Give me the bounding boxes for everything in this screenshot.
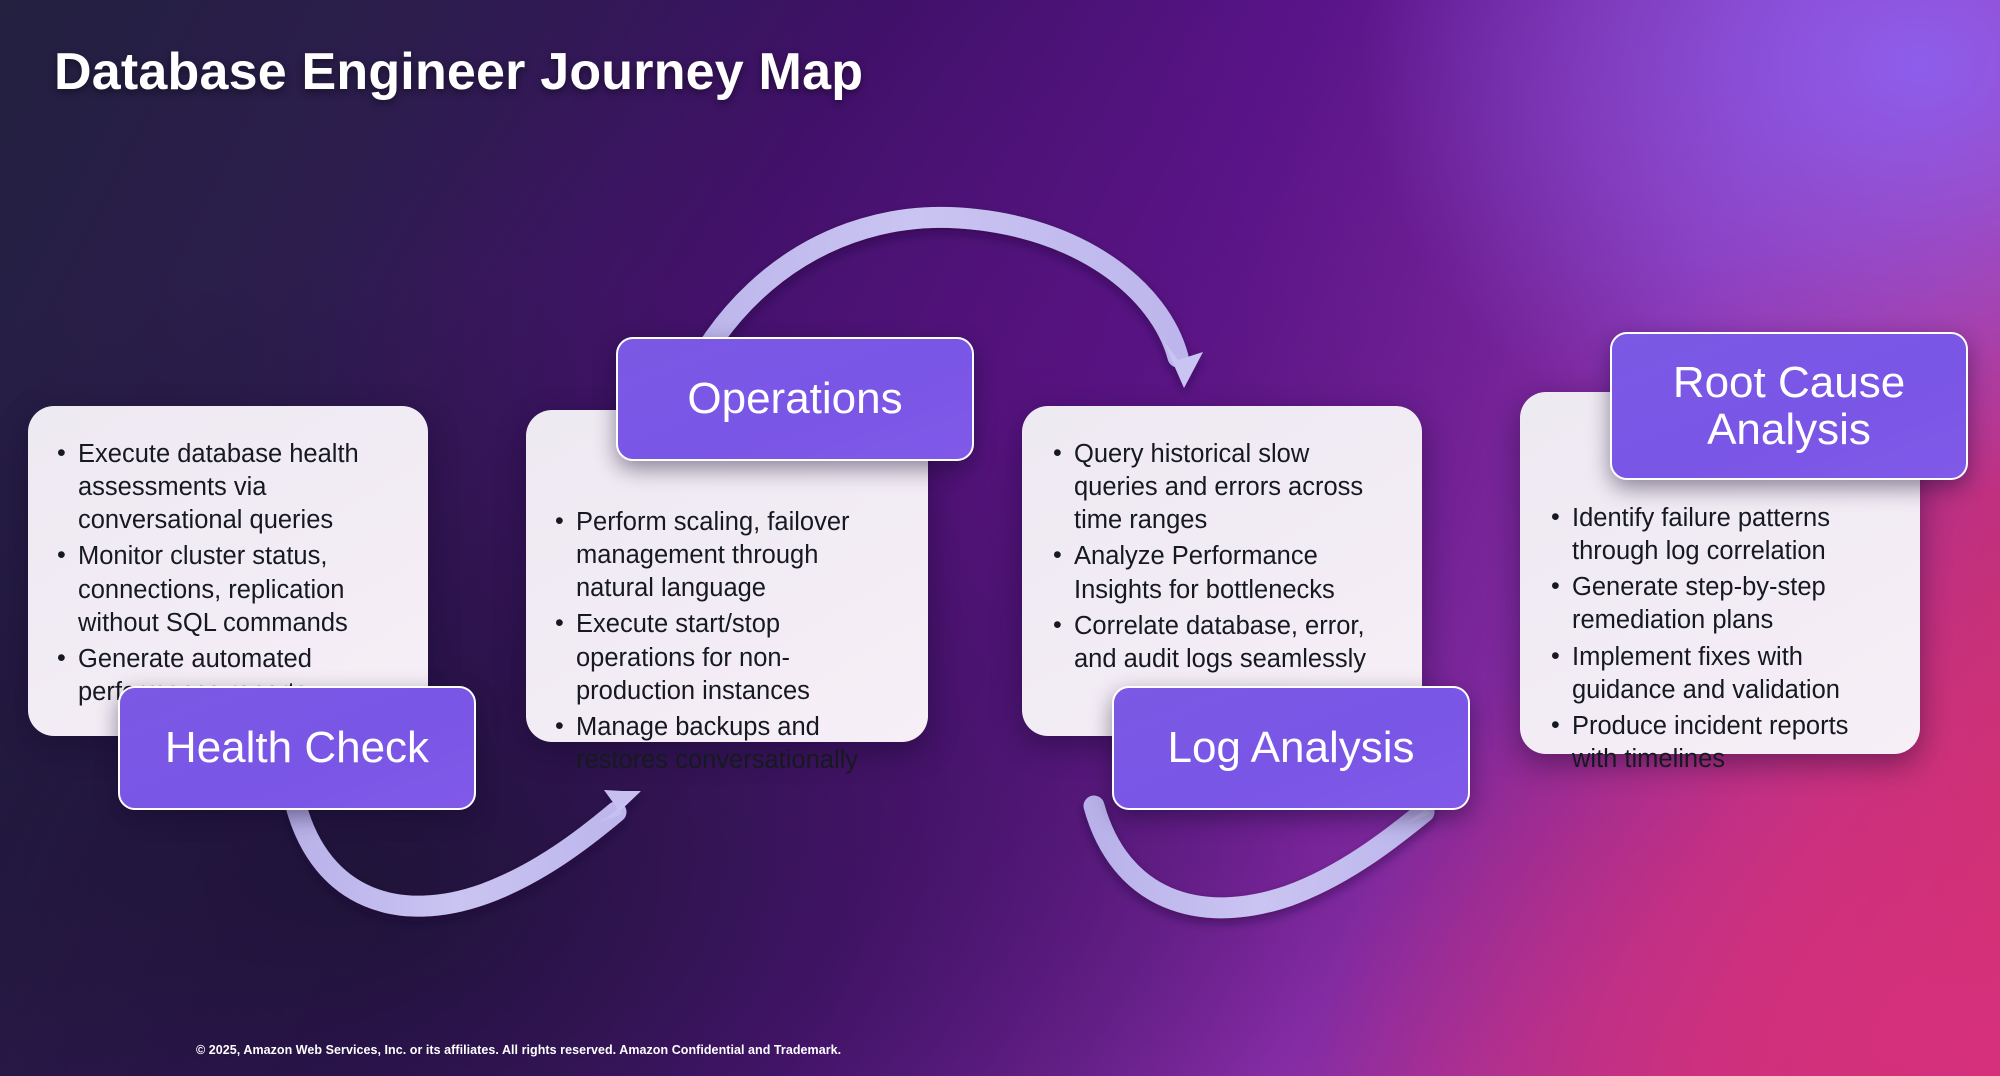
bullet-item: Analyze Performance Insights for bottlen… [1050,540,1392,606]
bullet-item: Query historical slow queries and errors… [1050,438,1392,537]
bullet-item: Execute start/stop operations for non-pr… [552,608,898,707]
bullet-item: Perform scaling, failover management thr… [552,506,898,605]
bullet-item: Correlate database, error, and audit log… [1050,610,1392,676]
bullet-item: Implement fixes with guidance and valida… [1548,641,1892,707]
stage-bullets-operations: Perform scaling, failover management thr… [552,506,898,777]
stage-badge-operations[interactable]: Operations [616,337,974,461]
bullet-item: Generate step-by-step remediation plans [1548,571,1892,637]
stage-badge-root-cause-analysis[interactable]: Root Cause Analysis [1610,332,1968,480]
journey-map-canvas: Database Engineer Journey Map Execute da… [0,0,2000,1076]
bullet-item: Identify failure patterns through log co… [1548,502,1892,568]
stage-bullets-root-cause-analysis: Identify failure patterns through log co… [1548,502,1892,776]
bullet-item: Monitor cluster status, connections, rep… [54,540,394,639]
bullet-item: Manage backups and restores conversation… [552,711,898,777]
copyright-footer: © 2025, Amazon Web Services, Inc. or its… [196,1043,841,1057]
stage-bullets-health-check: Execute database health assessments via … [54,438,394,709]
stage-bullets-log-analysis: Query historical slow queries and errors… [1050,438,1392,676]
bullet-item: Produce incident reports with timelines [1548,710,1892,776]
stage-badge-health-check[interactable]: Health Check [118,686,476,810]
bullet-item: Execute database health assessments via … [54,438,394,537]
stage-badge-log-analysis[interactable]: Log Analysis [1112,686,1470,810]
page-title: Database Engineer Journey Map [54,42,863,102]
